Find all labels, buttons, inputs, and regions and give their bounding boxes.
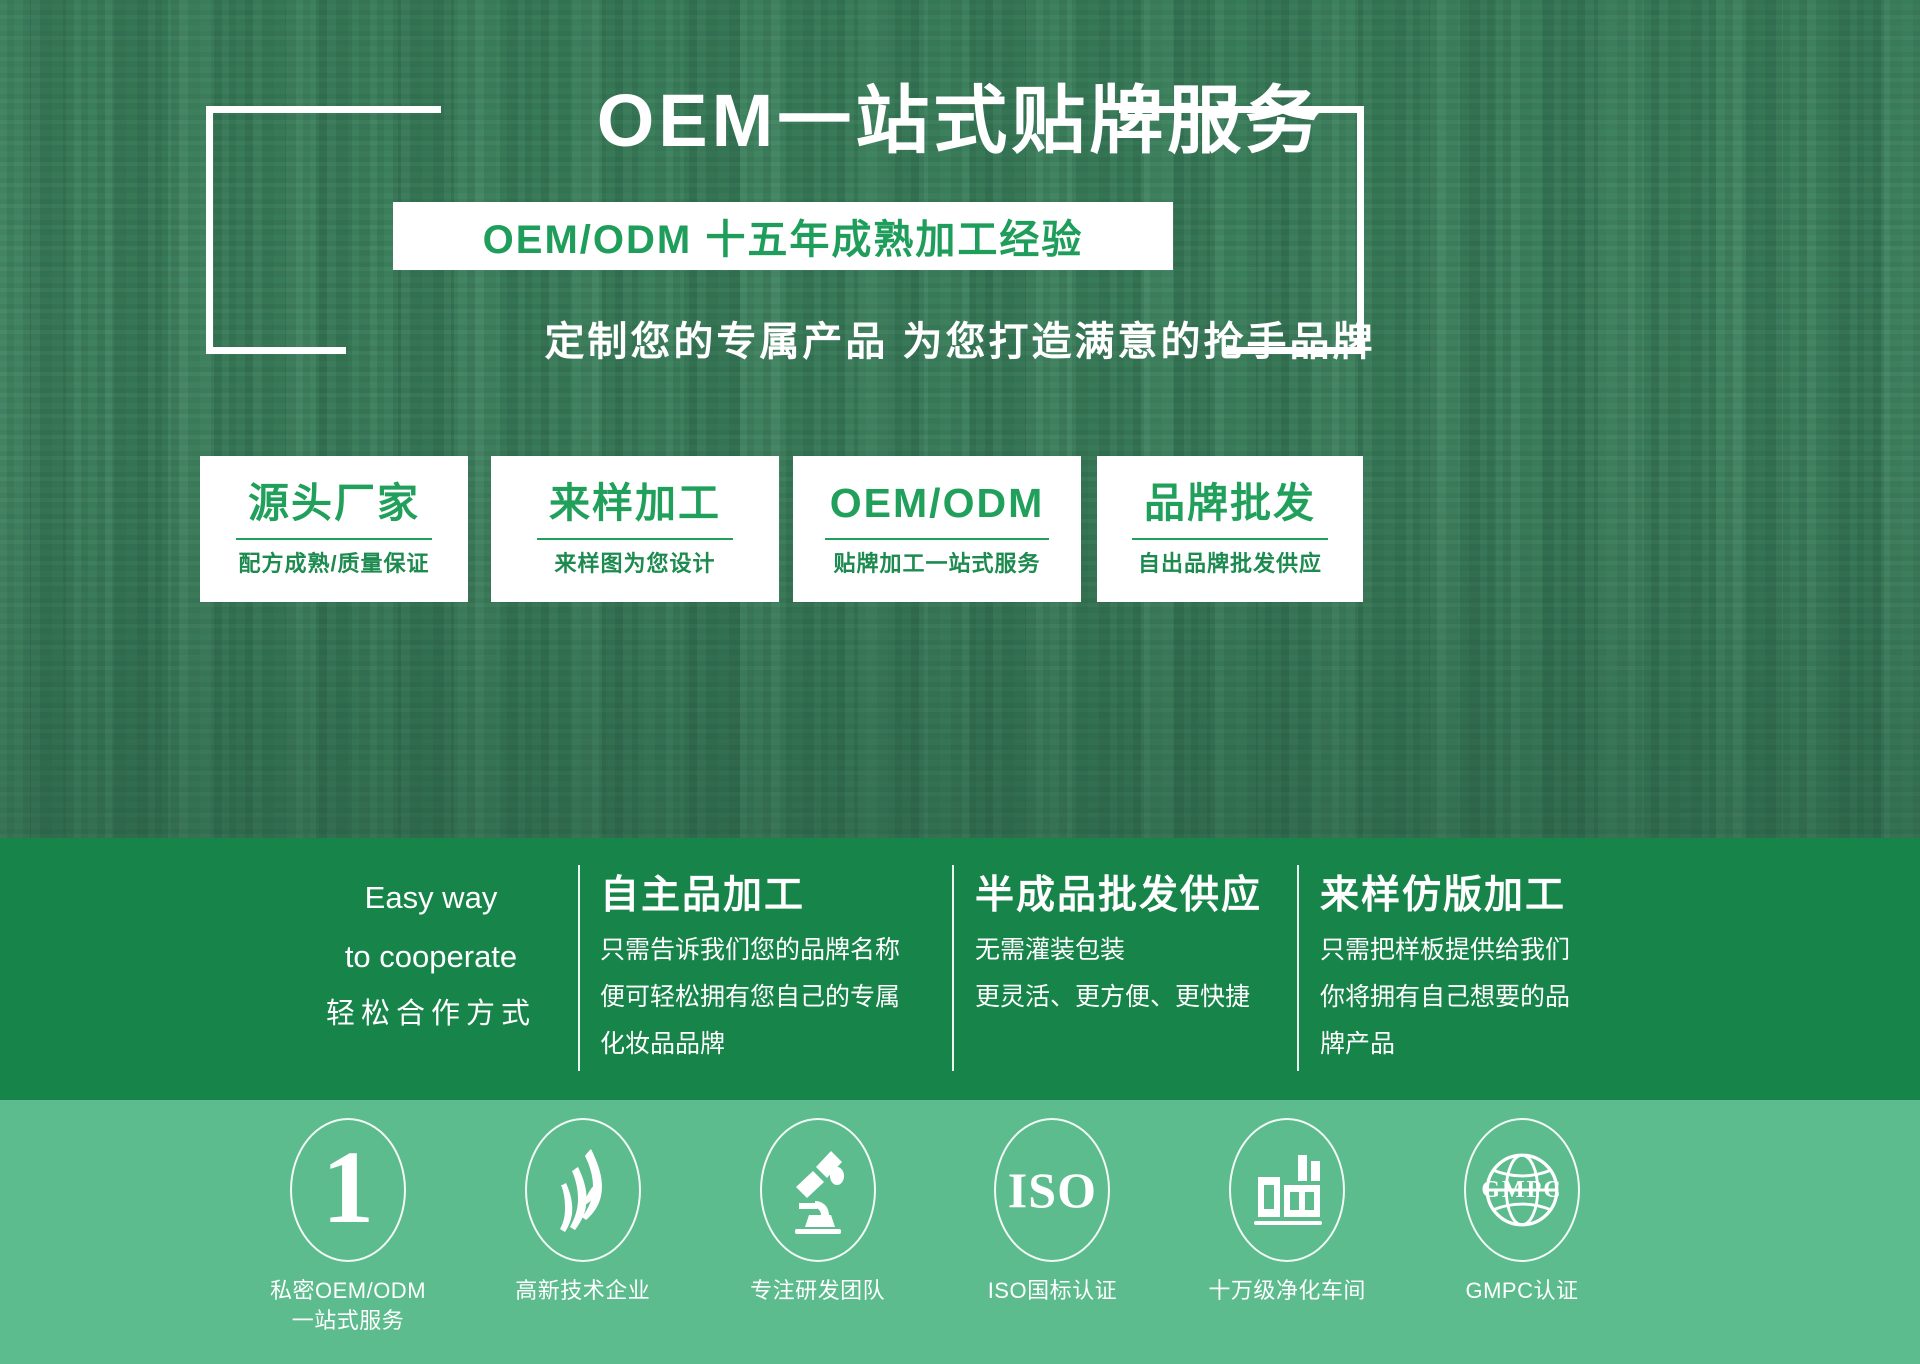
column-divider	[952, 865, 954, 1071]
band-column-line: 只需告诉我们您的品牌名称	[600, 938, 900, 963]
easy-line-3: 轻松合作方式	[300, 1000, 562, 1029]
feature-card[interactable]: 源头厂家 配方成熟/质量保证	[200, 456, 468, 602]
column-divider	[578, 865, 580, 1071]
band-column-line: 无需灌装包装	[975, 938, 1250, 963]
badge-label: ISO国标认证	[988, 1276, 1117, 1306]
cooperation-band: Easy way to cooperate 轻松合作方式 自主品加工 只需告诉我…	[0, 838, 1920, 1100]
band-column-line: 只需把样板提供给我们	[1320, 938, 1570, 963]
certification-badge[interactable]: 十万级净化车间	[1194, 1118, 1380, 1306]
divider	[537, 538, 733, 540]
diagonal-stripes-right	[1660, 1100, 1920, 1364]
band-column-title: 自主品加工	[600, 876, 805, 915]
band-column-line: 更灵活、更方便、更快捷	[975, 985, 1250, 1010]
feature-card-sub: 来样图为您设计	[554, 553, 715, 575]
feature-card[interactable]: OEM/ODM 贴牌加工一站式服务	[793, 456, 1081, 602]
factory-icon	[1229, 1118, 1345, 1262]
band-column-title: 半成品批发供应	[975, 876, 1262, 915]
hero-section: OEM一站式贴牌服务 OEM/ODM 十五年成熟加工经验 定制您的专属产品 为您…	[0, 0, 1920, 838]
promo-banner: OEM一站式贴牌服务 OEM/ODM 十五年成熟加工经验 定制您的专属产品 为您…	[0, 0, 1920, 1364]
band-column-title: 来样仿版加工	[1320, 876, 1566, 915]
easy-way-block: Easy way to cooperate 轻松合作方式	[300, 838, 562, 1100]
feature-card-title: 品牌批发	[1144, 483, 1316, 524]
divider	[1132, 538, 1328, 540]
band-column-line: 化妆品品牌	[600, 1032, 900, 1057]
band-column: 半成品批发供应 无需灌装包装 更灵活、更方便、更快捷	[975, 838, 1295, 1100]
feature-card-title: OEM/ODM	[830, 483, 1044, 524]
band-column-line: 你将拥有自己想要的品	[1320, 985, 1570, 1010]
certification-band: 1 私密OEM/ODM 一站式服务 高新技术企业	[0, 1100, 1920, 1364]
certification-badge[interactable]: 1 私密OEM/ODM 一站式服务	[255, 1118, 441, 1335]
certification-badge[interactable]: GMPC GMPC认证	[1429, 1118, 1615, 1306]
badge-label: 十万级净化车间	[1208, 1276, 1366, 1306]
easy-line-1: Easy way	[300, 882, 562, 913]
feature-card[interactable]: 来样加工 来样图为您设计	[491, 456, 779, 602]
subtitle-box: OEM/ODM 十五年成熟加工经验	[393, 202, 1173, 270]
certification-badge[interactable]: 专注研发团队	[725, 1118, 911, 1306]
microscope-icon	[760, 1118, 876, 1262]
feature-card-sub: 贴牌加工一站式服务	[833, 553, 1040, 575]
band-column-line: 牌产品	[1320, 1032, 1570, 1057]
feature-card-row: 源头厂家 配方成熟/质量保证 来样加工 来样图为您设计 OEM/ODM 贴牌加工…	[0, 456, 1920, 602]
certification-badge[interactable]: ISO ISO国标认证	[959, 1118, 1145, 1306]
feature-card[interactable]: 品牌批发 自出品牌批发供应	[1097, 456, 1363, 602]
globe-gmpc-icon: GMPC	[1464, 1118, 1580, 1262]
divider	[236, 538, 432, 540]
feature-card-title: 源头厂家	[248, 483, 420, 524]
leaf-flame-icon	[525, 1118, 641, 1262]
certification-badge[interactable]: 高新技术企业	[490, 1118, 676, 1306]
subtitle-text: OEM/ODM 十五年成熟加工经验	[483, 207, 1084, 265]
diagonal-stripes-left	[0, 1100, 260, 1364]
feature-card-sub: 配方成熟/质量保证	[238, 553, 429, 575]
page-title: OEM一站式贴牌服务	[0, 84, 1920, 158]
hero-tagline: 定制您的专属产品 为您打造满意的抢手品牌	[0, 322, 1920, 362]
feature-card-sub: 自出品牌批发供应	[1138, 553, 1322, 575]
badge-label: 私密OEM/ODM 一站式服务	[270, 1276, 426, 1335]
column-divider	[1297, 865, 1299, 1071]
band-column: 自主品加工 只需告诉我们您的品牌名称 便可轻松拥有您自己的专属 化妆品品牌	[600, 838, 952, 1100]
iso-text-icon: ISO	[994, 1118, 1110, 1262]
badge-row: 1 私密OEM/ODM 一站式服务 高新技术企业	[255, 1118, 1615, 1348]
easy-line-2: to cooperate	[300, 941, 562, 972]
number-one-icon: 1	[290, 1118, 406, 1262]
badge-label: 高新技术企业	[515, 1276, 650, 1306]
badge-label: GMPC认证	[1465, 1276, 1578, 1306]
divider	[825, 538, 1049, 540]
badge-label: 专注研发团队	[750, 1276, 885, 1306]
band-column-line: 便可轻松拥有您自己的专属	[600, 985, 900, 1010]
feature-card-title: 来样加工	[549, 483, 721, 524]
band-column: 来样仿版加工 只需把样板提供给我们 你将拥有自己想要的品 牌产品	[1320, 838, 1660, 1100]
